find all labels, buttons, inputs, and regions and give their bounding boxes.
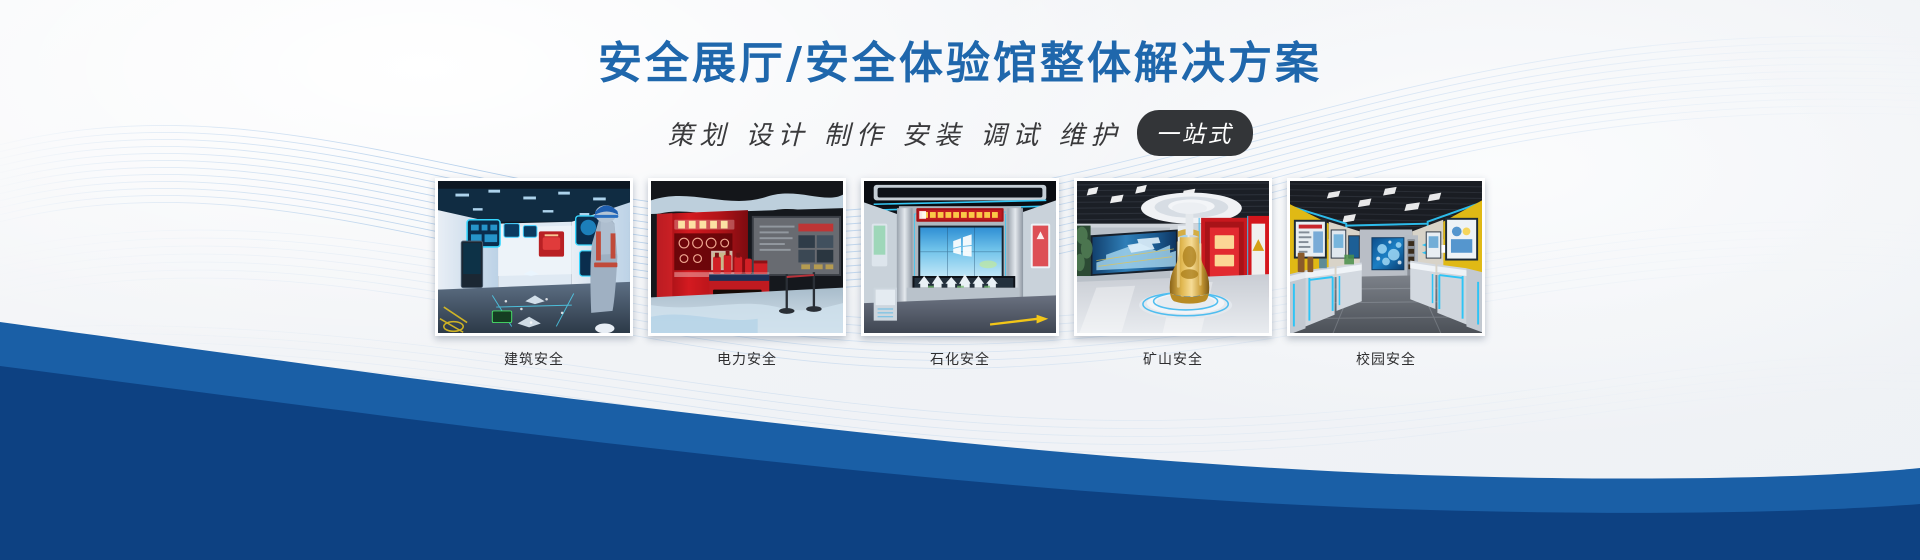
mine-safety-hall-image (1077, 181, 1269, 334)
campus-safety-hall-image (1290, 181, 1482, 334)
case-caption-construction: 建筑安全 (504, 349, 564, 369)
case-thumbnail-campus[interactable] (1287, 178, 1485, 336)
case-thumbnail-petrochemical[interactable] (861, 178, 1059, 336)
subtitle-services: 策划 设计 制作 安装 调试 维护 (667, 115, 1122, 152)
case-card-power[interactable]: 电力安全 (648, 178, 846, 369)
page-title: 安全展厅/安全体验馆整体解决方案 (598, 27, 1322, 91)
construction-safety-hall-image (438, 181, 630, 334)
case-thumbnail-power[interactable] (648, 178, 846, 336)
case-caption-petrochemical: 石化安全 (930, 349, 990, 369)
case-caption-power: 电力安全 (717, 349, 777, 369)
banner-content: 安全展厅/安全体验馆整体解决方案 策划 设计 制作 安装 调试 维护 一站式 (0, 0, 1920, 560)
one-stop-badge: 一站式 (1137, 110, 1253, 156)
case-card-construction[interactable]: 建筑安全 (435, 178, 633, 369)
case-thumbnail-construction[interactable] (435, 178, 633, 336)
case-caption-mine: 矿山安全 (1143, 349, 1203, 369)
banner-root: 安全展厅/安全体验馆整体解决方案 策划 设计 制作 安装 调试 维护 一站式 (0, 0, 1920, 560)
case-card-campus[interactable]: 校园安全 (1287, 178, 1485, 369)
case-thumbnail-list: 建筑安全 (435, 178, 1485, 369)
petrochemical-safety-hall-image (864, 181, 1056, 334)
case-card-mine[interactable]: 矿山安全 (1074, 178, 1272, 369)
power-safety-hall-image (651, 181, 843, 334)
subtitle-row: 策划 设计 制作 安装 调试 维护 一站式 (667, 110, 1252, 156)
case-caption-campus: 校园安全 (1356, 349, 1416, 369)
case-thumbnail-mine[interactable] (1074, 178, 1272, 336)
case-card-petrochemical[interactable]: 石化安全 (861, 178, 1059, 369)
